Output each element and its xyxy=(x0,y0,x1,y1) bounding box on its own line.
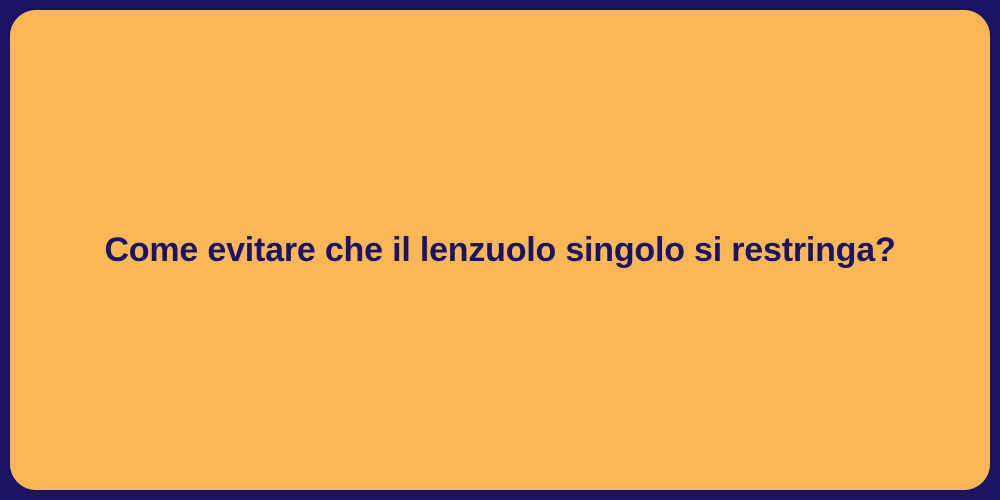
headline-text: Come evitare che il lenzuolo singolo si … xyxy=(10,229,990,272)
card-panel: Come evitare che il lenzuolo singolo si … xyxy=(10,10,990,490)
card-frame: Come evitare che il lenzuolo singolo si … xyxy=(0,0,1000,500)
